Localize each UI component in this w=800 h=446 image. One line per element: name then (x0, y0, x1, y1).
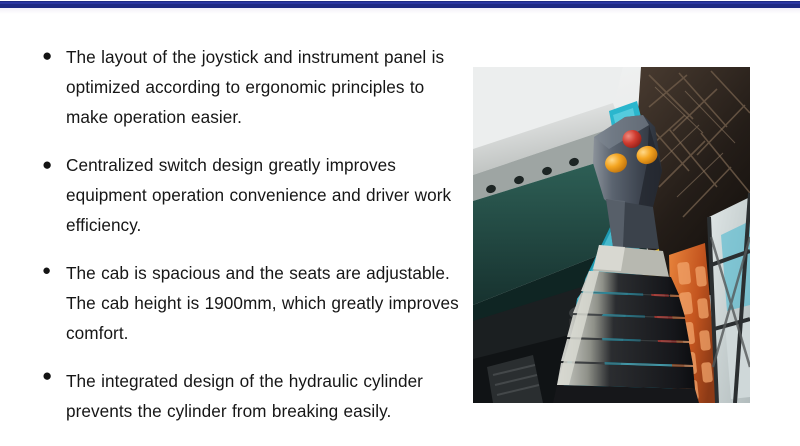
top-accent-rule-highlight (0, 2, 800, 4)
list-item: ● The integrated design of the hydraulic… (38, 366, 463, 426)
joystick-photo (473, 67, 750, 403)
list-item-text: The integrated design of the hydraulic c… (66, 366, 463, 426)
top-accent-rule (0, 1, 800, 8)
top-accent-rule-fade (0, 8, 800, 14)
list-item: ● The cab is spacious and the seats are … (38, 258, 463, 348)
feature-bullet-list: ● The layout of the joystick and instrum… (38, 42, 463, 444)
bullet-dot-icon: ● (38, 258, 66, 284)
slide-canvas: ● The layout of the joystick and instrum… (0, 0, 800, 446)
list-item-text: The layout of the joystick and instrumen… (66, 42, 463, 132)
list-item: ● Centralized switch design greatly impr… (38, 150, 463, 240)
list-item-text: The cab is spacious and the seats are ad… (66, 258, 463, 348)
list-item: ● The layout of the joystick and instrum… (38, 42, 463, 132)
bullet-dot-icon: ● (38, 150, 66, 179)
list-item-text: Centralized switch design greatly improv… (66, 150, 463, 240)
joystick-photo-illustration (473, 67, 750, 403)
bullet-dot-icon: ● (38, 366, 66, 386)
bullet-dot-icon: ● (38, 42, 66, 70)
